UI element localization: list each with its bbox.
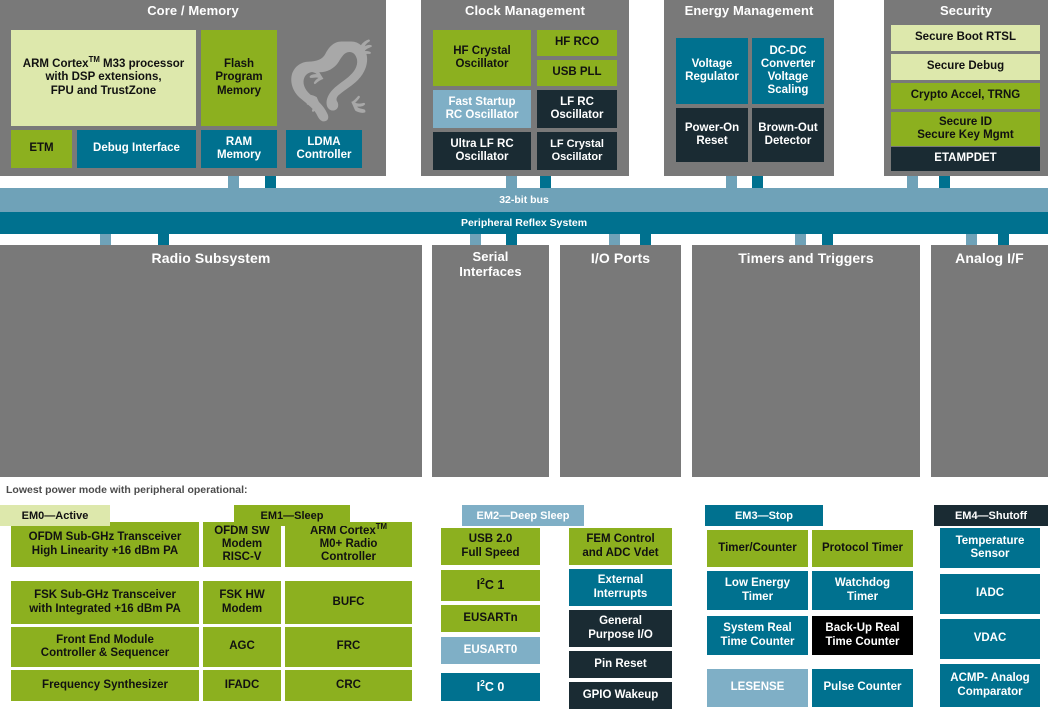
legend-note: Lowest power mode with peripheral operat… bbox=[6, 484, 248, 496]
block-label: GeneralPurpose I/O bbox=[588, 615, 653, 641]
panel-title-security: Security bbox=[884, 0, 1048, 19]
block-temperature-sensor[interactable]: TemperatureSensor bbox=[940, 528, 1040, 568]
block-label: HF RCO bbox=[555, 36, 599, 49]
block-label: Secure Boot RTSL bbox=[915, 31, 1016, 44]
block-label: BUFC bbox=[333, 596, 365, 609]
panel-title-core-memory: Core / Memory bbox=[0, 0, 386, 19]
block-label: HF CrystalOscillator bbox=[453, 45, 511, 71]
block-fsk-sub-ghz-transceiver[interactable]: FSK Sub-GHz Transceiverwith Integrated +… bbox=[11, 581, 199, 624]
block-label: ETM bbox=[29, 142, 53, 155]
block-hf-crystal-oscillator[interactable]: HF CrystalOscillator bbox=[433, 30, 531, 86]
block-label: System RealTime Counter bbox=[721, 622, 795, 648]
block-label: ARM CortexTMM0+ RadioController bbox=[310, 525, 387, 565]
block-label: ACMP- AnalogComparator bbox=[950, 672, 1029, 698]
block-iadc[interactable]: IADC bbox=[940, 574, 1040, 614]
block-backup-real-time-counter[interactable]: Back-Up RealTime Counter bbox=[812, 616, 913, 655]
panel-io-ports: I/O Ports FEM Controland ADC Vdet Extern… bbox=[560, 245, 681, 477]
block-label: OFDM Sub-GHz TransceiverHigh Linearity +… bbox=[29, 531, 182, 557]
block-ifadc[interactable]: IFADC bbox=[203, 670, 281, 701]
block-voltage-regulator[interactable]: VoltageRegulator bbox=[676, 38, 748, 104]
block-etm[interactable]: ETM bbox=[11, 130, 72, 168]
block-lesense[interactable]: LESENSE bbox=[707, 669, 808, 707]
block-label: Fast StartupRC Oscillator bbox=[446, 96, 519, 122]
block-label: Secure IDSecure Key Mgmt bbox=[917, 116, 1014, 142]
block-label: AGC bbox=[229, 640, 255, 653]
block-label: CRC bbox=[336, 679, 361, 692]
block-ram-memory[interactable]: RAMMemory bbox=[201, 130, 277, 168]
block-label: Debug Interface bbox=[93, 142, 180, 155]
block-label: LF CrystalOscillator bbox=[550, 138, 604, 163]
block-secure-id-key-mgmt[interactable]: Secure IDSecure Key Mgmt bbox=[891, 112, 1040, 146]
block-label: RAMMemory bbox=[217, 136, 261, 162]
block-label: Back-Up RealTime Counter bbox=[825, 622, 899, 648]
block-label: USB PLL bbox=[552, 66, 601, 79]
block-ultra-lf-rc-oscillator[interactable]: Ultra LF RCOscillator bbox=[433, 132, 531, 170]
block-label: FSK HWModem bbox=[219, 589, 264, 615]
block-secure-boot-rtsl[interactable]: Secure Boot RTSL bbox=[891, 25, 1040, 51]
block-watchdog-timer[interactable]: WatchdogTimer bbox=[812, 571, 913, 610]
legend-label: EM2—Deep Sleep bbox=[477, 510, 570, 522]
gecko-logo-icon bbox=[286, 26, 382, 126]
block-label: WatchdogTimer bbox=[835, 577, 890, 603]
block-arm-cortex-m33[interactable]: ARM CortexTM M33 processorwith DSP exten… bbox=[11, 30, 196, 126]
panel-title-serial-interfaces: SerialInterfaces bbox=[432, 245, 549, 279]
block-usb-20-full-speed[interactable]: USB 2.0Full Speed bbox=[441, 528, 540, 565]
block-brown-out-detector[interactable]: Brown-OutDetector bbox=[752, 108, 824, 162]
bus-peripheral-reflex-system: Peripheral Reflex System bbox=[0, 212, 1048, 234]
block-pulse-counter[interactable]: Pulse Counter bbox=[812, 669, 913, 707]
legend-item-em4-shutoff: EM4—Shutoff bbox=[934, 505, 1048, 526]
block-label: Low EnergyTimer bbox=[725, 577, 790, 603]
block-label: LESENSE bbox=[731, 681, 785, 694]
block-label: I2C 0 bbox=[477, 680, 505, 694]
block-eusartn[interactable]: EUSARTn bbox=[441, 605, 540, 632]
block-label: Secure Debug bbox=[927, 60, 1004, 73]
panel-radio-subsystem: Radio Subsystem OFDM Sub-GHz Transceiver… bbox=[0, 245, 422, 477]
block-lf-crystal-oscillator[interactable]: LF CrystalOscillator bbox=[537, 132, 617, 170]
block-label: Crypto Accel, TRNG bbox=[911, 89, 1020, 102]
block-external-interrupts[interactable]: ExternalInterrupts bbox=[569, 569, 672, 606]
block-label: EUSART0 bbox=[464, 644, 518, 657]
block-timer-counter[interactable]: Timer/Counter bbox=[707, 530, 808, 567]
block-arm-cortex-m0-radio-controller[interactable]: ARM CortexTMM0+ RadioController bbox=[285, 522, 412, 567]
legend-label: EM3—Stop bbox=[735, 510, 793, 522]
block-label: USB 2.0Full Speed bbox=[461, 533, 519, 559]
legend-item-em2-deep-sleep: EM2—Deep Sleep bbox=[462, 505, 584, 526]
block-ldma-controller[interactable]: LDMAController bbox=[286, 130, 362, 168]
block-label: Flash Program Memory bbox=[203, 58, 275, 98]
block-ofdm-sw-modem-riscv[interactable]: OFDM SWModemRISC-V bbox=[203, 522, 281, 567]
bus-prs-label: Peripheral Reflex System bbox=[0, 218, 1048, 229]
block-crypto-accel-trng[interactable]: Crypto Accel, TRNG bbox=[891, 83, 1040, 109]
block-label: IFADC bbox=[225, 679, 260, 692]
block-i2c-1[interactable]: I2C 1 bbox=[441, 570, 540, 601]
panel-core-memory: Core / Memory ARM CortexTM M33 processor… bbox=[0, 0, 386, 176]
block-label: VoltageRegulator bbox=[685, 58, 739, 84]
block-label: VDAC bbox=[974, 632, 1007, 645]
block-label: LDMAController bbox=[297, 136, 352, 162]
block-secure-debug[interactable]: Secure Debug bbox=[891, 54, 1040, 80]
block-vdac[interactable]: VDAC bbox=[940, 619, 1040, 659]
legend-label: EM4—Shutoff bbox=[955, 510, 1027, 522]
block-label: ETAMPDET bbox=[934, 152, 996, 165]
block-fem-control-adc-vdet[interactable]: FEM Controland ADC Vdet bbox=[569, 528, 672, 565]
block-protocol-timer[interactable]: Protocol Timer bbox=[812, 530, 913, 567]
block-lf-rc-oscillator[interactable]: LF RCOscillator bbox=[537, 90, 617, 128]
block-label: FEM Controland ADC Vdet bbox=[582, 533, 658, 559]
block-frequency-synthesizer[interactable]: Frequency Synthesizer bbox=[11, 670, 199, 701]
block-i2c-0[interactable]: I2C 0 bbox=[441, 673, 540, 701]
block-hf-rco[interactable]: HF RCO bbox=[537, 30, 617, 56]
block-fast-startup-rc-oscillator[interactable]: Fast StartupRC Oscillator bbox=[433, 90, 531, 128]
panel-title-timers-and-triggers: Timers and Triggers bbox=[692, 245, 920, 267]
block-flash-program-memory[interactable]: Flash Program Memory bbox=[201, 30, 277, 126]
block-gpio-wakeup[interactable]: GPIO Wakeup bbox=[569, 682, 672, 709]
block-label: Protocol Timer bbox=[822, 542, 903, 555]
block-label: Front End ModuleController & Sequencer bbox=[41, 634, 169, 660]
panel-energy-management: Energy Management VoltageRegulator DC-DC… bbox=[664, 0, 834, 176]
block-label: Timer/Counter bbox=[718, 542, 796, 555]
panel-title-io-ports: I/O Ports bbox=[560, 245, 681, 267]
bus-32bit: 32-bit bus bbox=[0, 188, 1048, 212]
block-label: DC-DCConverterVoltageScaling bbox=[761, 45, 815, 98]
panel-title-analog-if: Analog I/F bbox=[931, 245, 1048, 267]
block-pin-reset[interactable]: Pin Reset bbox=[569, 651, 672, 678]
panel-title-energy-management: Energy Management bbox=[664, 0, 834, 19]
block-acmp-analog-comparator[interactable]: ACMP- AnalogComparator bbox=[940, 664, 1040, 707]
panel-title-clock-management: Clock Management bbox=[421, 0, 629, 19]
block-agc[interactable]: AGC bbox=[203, 627, 281, 667]
block-general-purpose-io[interactable]: GeneralPurpose I/O bbox=[569, 610, 672, 647]
block-label: TemperatureSensor bbox=[956, 535, 1025, 561]
block-crc[interactable]: CRC bbox=[285, 670, 412, 701]
legend-item-em1-sleep: EM1—Sleep bbox=[234, 505, 350, 526]
block-bufc[interactable]: BUFC bbox=[285, 581, 412, 624]
block-fsk-hw-modem[interactable]: FSK HWModem bbox=[203, 581, 281, 624]
bus-32bit-label: 32-bit bus bbox=[0, 195, 1048, 206]
block-power-on-reset[interactable]: Power-OnReset bbox=[676, 108, 748, 162]
block-eusart0[interactable]: EUSART0 bbox=[441, 637, 540, 664]
panel-timers-and-triggers: Timers and Triggers Timer/Counter Protoc… bbox=[692, 245, 920, 477]
block-label: Pulse Counter bbox=[824, 681, 902, 694]
block-label: EUSARTn bbox=[463, 612, 517, 625]
panel-clock-management: Clock Management HF CrystalOscillator HF… bbox=[421, 0, 629, 176]
block-dcdc-converter-voltage-scaling[interactable]: DC-DCConverterVoltageScaling bbox=[752, 38, 824, 104]
panel-title-radio-subsystem: Radio Subsystem bbox=[0, 245, 422, 267]
block-label: I2C 1 bbox=[477, 578, 505, 592]
block-label: OFDM SWModemRISC-V bbox=[214, 525, 270, 565]
block-usb-pll[interactable]: USB PLL bbox=[537, 60, 617, 86]
block-system-real-time-counter[interactable]: System RealTime Counter bbox=[707, 616, 808, 655]
block-label: GPIO Wakeup bbox=[583, 689, 659, 702]
block-front-end-module-controller[interactable]: Front End ModuleController & Sequencer bbox=[11, 627, 199, 667]
legend-label: EM0—Active bbox=[22, 510, 89, 522]
block-label: ExternalInterrupts bbox=[594, 574, 648, 600]
legend-label: EM1—Sleep bbox=[261, 510, 324, 522]
block-label: LF RCOscillator bbox=[550, 96, 603, 122]
legend-item-em3-stop: EM3—Stop bbox=[705, 505, 823, 526]
block-debug-interface[interactable]: Debug Interface bbox=[77, 130, 196, 168]
block-etampdet[interactable]: ETAMPDET bbox=[891, 147, 1040, 171]
block-label: Pin Reset bbox=[594, 658, 646, 671]
block-label: Brown-OutDetector bbox=[758, 122, 817, 148]
panel-serial-interfaces: SerialInterfaces USB 2.0Full Speed I2C 1… bbox=[432, 245, 549, 477]
block-label: FRC bbox=[337, 640, 361, 653]
legend-item-em0-active: EM0—Active bbox=[0, 505, 110, 526]
panel-security: Security Secure Boot RTSL Secure Debug C… bbox=[884, 0, 1048, 176]
block-label: Ultra LF RCOscillator bbox=[450, 138, 513, 164]
block-label: Frequency Synthesizer bbox=[42, 679, 168, 692]
block-ofdm-sub-ghz-transceiver[interactable]: OFDM Sub-GHz TransceiverHigh Linearity +… bbox=[11, 522, 199, 567]
block-label: Power-OnReset bbox=[685, 122, 739, 148]
block-label: IADC bbox=[976, 587, 1004, 600]
block-frc[interactable]: FRC bbox=[285, 627, 412, 667]
block-label: FSK Sub-GHz Transceiverwith Integrated +… bbox=[29, 589, 181, 615]
block-low-energy-timer[interactable]: Low EnergyTimer bbox=[707, 571, 808, 610]
panel-analog-if: Analog I/F TemperatureSensor IADC VDAC A… bbox=[931, 245, 1048, 477]
